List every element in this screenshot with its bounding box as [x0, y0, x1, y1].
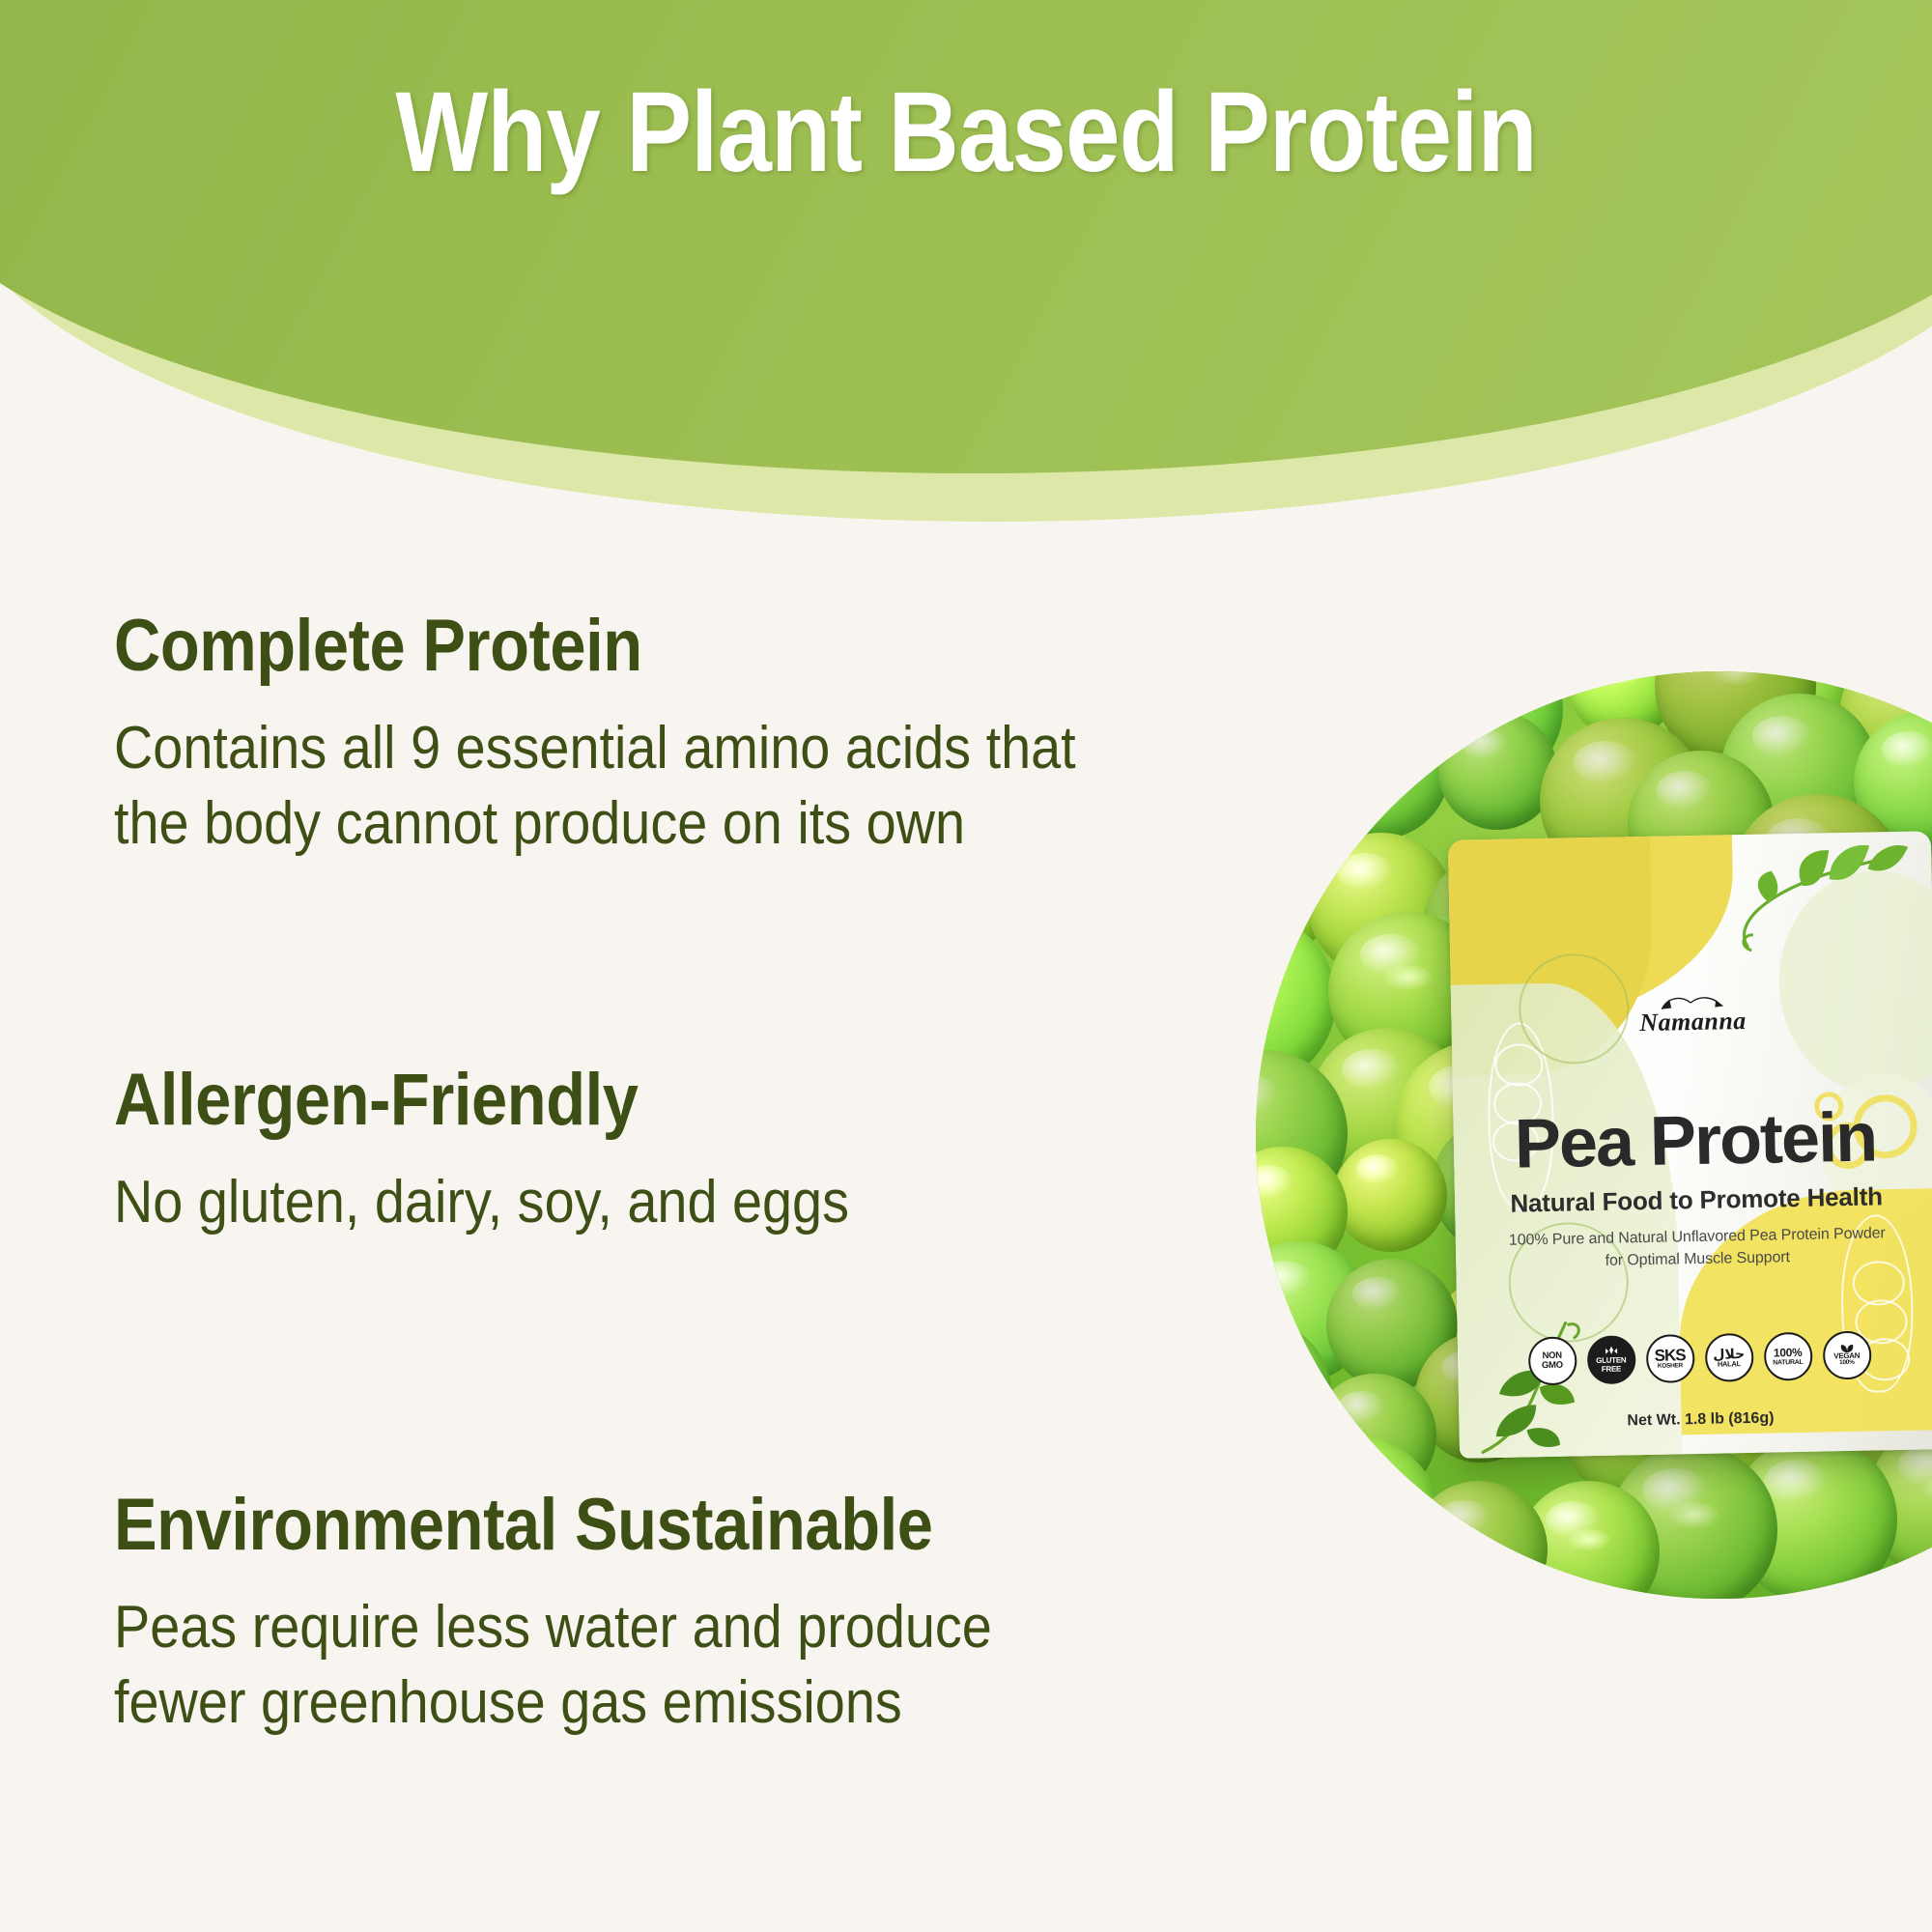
pea-highlight [1256, 1073, 1278, 1117]
product-description: 100% Pure and Natural Unflavored Pea Pro… [1456, 1221, 1932, 1275]
pea-highlight [1336, 718, 1390, 754]
pea-highlight [1437, 1500, 1490, 1536]
pea-highlight [1256, 1451, 1278, 1494]
pea-highlight [1868, 671, 1924, 700]
infographic-page: Why Plant Based Protein Complete Protein… [0, 0, 1932, 1932]
pea-highlight [1764, 1460, 1828, 1503]
feature-body: Peas require less water and produce fewe… [114, 1590, 992, 1741]
product-title: Pea Protein [1453, 1101, 1932, 1180]
feature-block-allergen-friendly: Allergen-Friendly No gluten, dairy, soy,… [114, 1063, 931, 1240]
pea-highlight [1352, 1277, 1403, 1312]
pea-highlight [1338, 1391, 1385, 1423]
badge-kosher: SKS KOSHER [1645, 1334, 1694, 1383]
pea-highlight [1574, 741, 1637, 784]
badge-line2: FREE [1602, 1365, 1621, 1374]
badge-line1: SKS [1655, 1347, 1686, 1364]
badge-line2: KOSHER [1658, 1364, 1683, 1371]
pea-highlight [1342, 1049, 1401, 1090]
feature-heading: Environmental Sustainable [114, 1488, 973, 1563]
feature-body-line: Contains all 9 essential amino acids tha… [114, 711, 1076, 786]
feature-block-environmental-sustainable: Environmental Sustainable Peas require l… [114, 1488, 1090, 1741]
feature-body-line: Peas require less water and produce [114, 1590, 992, 1665]
pea-seam [1463, 686, 1511, 710]
pea-highlight [1463, 728, 1507, 759]
badge-line2: GMO [1542, 1361, 1563, 1371]
pea [1334, 1139, 1447, 1252]
badge-halal: حلال HALAL [1704, 1333, 1753, 1382]
pea-seam [1710, 671, 1761, 686]
pea-seam [1256, 1371, 1277, 1397]
pea-seam [1382, 965, 1434, 990]
badge-vegan: VEGAN 100% [1822, 1331, 1871, 1380]
pea-highlight [1337, 853, 1392, 891]
pea-seam [1605, 671, 1641, 684]
feature-block-complete-protein: Complete Protein Contains all 9 essentia… [114, 609, 1182, 862]
pea-highlight [1752, 716, 1812, 756]
leaf-vine-icon [1728, 839, 1914, 959]
feature-heading: Complete Protein [114, 609, 1055, 684]
feature-body: No gluten, dairy, soy, and eggs [114, 1165, 849, 1240]
badge-line2: HALAL [1718, 1360, 1741, 1368]
feature-body: Contains all 9 essential amino acids tha… [114, 711, 1076, 862]
badge-100-natural: 100% NATURAL [1763, 1332, 1812, 1381]
certification-badges: NON GMO GLUTEN FREE SKS KOSHER [1458, 1329, 1932, 1387]
product-circle-clip: Namanna Pea Protein Natural Food to Prom… [1164, 638, 1932, 1642]
badge-non-gmo: NON GMO [1527, 1336, 1577, 1385]
badge-gluten-free: GLUTEN FREE [1586, 1335, 1635, 1384]
badge-line1: 100% [1774, 1347, 1803, 1359]
feature-heading: Allergen-Friendly [114, 1063, 833, 1138]
pea-highlight [1356, 1154, 1400, 1183]
badge-line2: 100% [1839, 1360, 1855, 1367]
pea-highlight [1258, 1261, 1312, 1297]
header-banner: Why Plant Based Protein [0, 0, 1932, 599]
page-title: Why Plant Based Protein [135, 75, 1797, 189]
feature-body-line: No gluten, dairy, soy, and eggs [114, 1165, 849, 1240]
product-image: Namanna Pea Protein Natural Food to Prom… [1164, 638, 1932, 1642]
feature-body-line: fewer greenhouse gas emissions [114, 1665, 992, 1741]
pea-highlight [1256, 1165, 1293, 1199]
pea-seam [1566, 1529, 1611, 1551]
pea [1438, 712, 1556, 830]
product-pouch: Namanna Pea Protein Natural Food to Prom… [1448, 831, 1932, 1458]
pea-highlight [1657, 771, 1713, 810]
pea-seam [1256, 972, 1277, 1000]
pea-highlight [1882, 731, 1932, 768]
feature-body-line: the body cannot produce on its own [114, 786, 1076, 862]
pea-seam [1666, 1502, 1720, 1529]
badge-line2: NATURAL [1773, 1358, 1803, 1366]
